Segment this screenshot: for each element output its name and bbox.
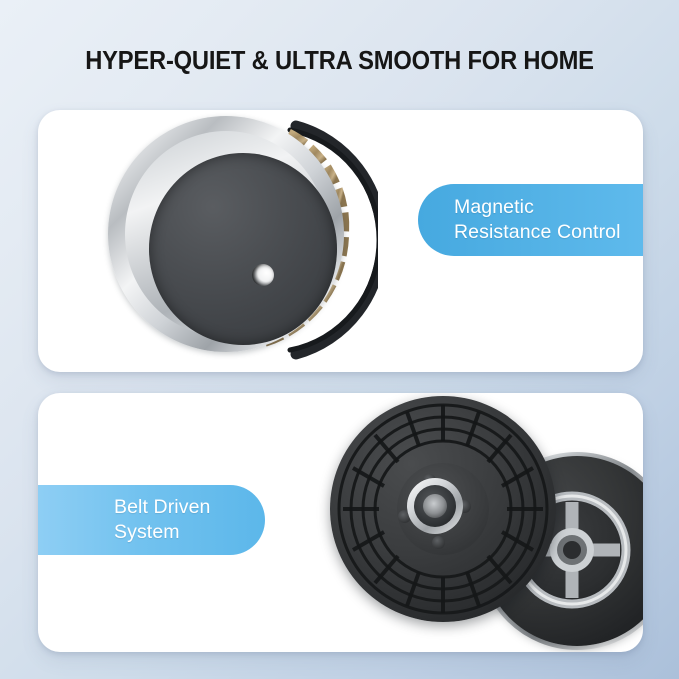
badge-line-2: System [114,520,265,545]
badge-line-2: Resistance Control [454,220,643,245]
rim-inner-bevel [125,131,327,337]
feature-card-belt-drive: Belt Driven System [38,393,643,652]
badge-line-1: Magnetic [454,195,643,220]
hub-bolt [432,536,445,549]
page-title: HYPER-QUIET & ULTRA SMOOTH FOR HOME [24,47,655,76]
badge-line-1: Belt Driven [114,495,265,520]
badge-belt-driven-system: Belt Driven System [38,485,265,555]
ball-bearing-inner-race [423,494,447,518]
product-feature-graphic: HYPER-QUIET & ULTRA SMOOTH FOR HOME [0,0,679,679]
chrome-outer-rim [108,116,344,352]
badge-magnetic-resistance: Magnetic Resistance Control [418,184,643,256]
feature-card-magnetic-resistance: Magnetic Resistance Control [38,110,643,372]
center-hole [252,264,274,286]
flywheel-face [149,153,337,345]
belt-drive-image [306,393,643,652]
magnetic-flywheel-image [100,110,378,372]
